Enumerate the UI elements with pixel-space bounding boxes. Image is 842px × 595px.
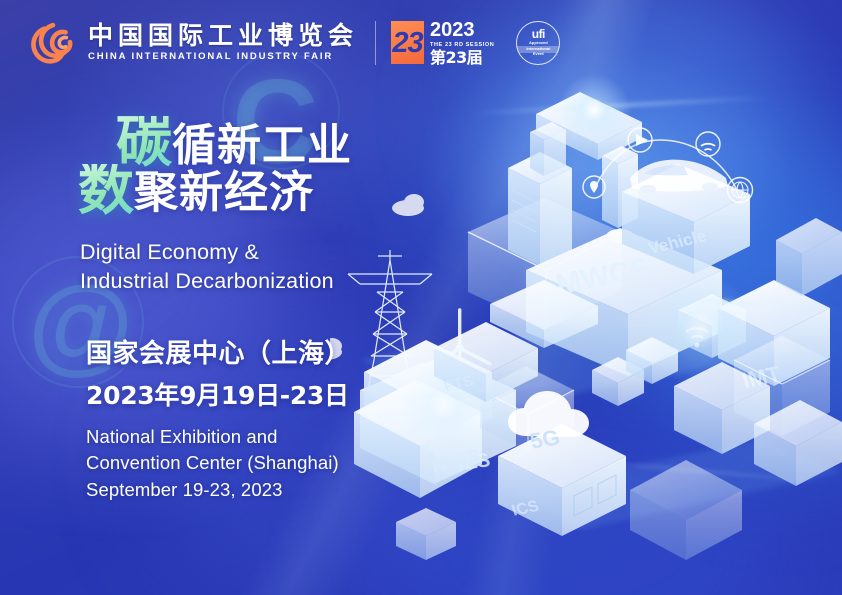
cif-title-en: CHINA INTERNATIONAL INDUSTRY FAIR [88, 51, 358, 62]
isometric-industrial-scene: IES [330, 60, 842, 560]
cloud-icon [392, 194, 424, 216]
car-icon [630, 160, 728, 194]
venue-name-cn: 国家会展中心（上海） [86, 341, 351, 367]
session-number: 23 [392, 29, 422, 58]
location-pin-icon [583, 176, 605, 198]
venue-info-en: National Exhibition and Convention Cente… [86, 424, 339, 503]
headline-accent-char-2: 数 [78, 164, 134, 218]
small-cube [396, 508, 456, 560]
cloud-label-5g: 5G [527, 425, 562, 454]
venue-date-en: September 19-23, 2023 [86, 477, 339, 503]
headline-subtitle: Digital Economy & Industrial Decarboniza… [80, 238, 334, 296]
ufi-band [517, 46, 559, 53]
headline-line-1: 碳 循新工业 [116, 116, 352, 170]
venue-name-en-line-1: National Exhibition and [86, 424, 339, 450]
subtitle-line-2: Industrial Decarbonization [80, 267, 334, 296]
poster-root: C @ [0, 0, 842, 595]
headline-block: 碳 循新工业 数 聚新经济 [78, 116, 352, 218]
session-number-badge: 23 [391, 21, 424, 64]
session-info: 2023 THE 23 RD SESSION 第23届 [430, 20, 494, 66]
subtitle-line-1: Digital Economy & [80, 238, 334, 267]
cif-wordmark: 中国国际工业博览会 CHINA INTERNATIONAL INDUSTRY F… [88, 23, 358, 62]
header-divider [375, 21, 376, 65]
wifi-icon [696, 132, 720, 156]
poster-header: 中国国际工业博览会 CHINA INTERNATIONAL INDUSTRY F… [0, 0, 842, 85]
ufi-sub-line3: Event [533, 52, 544, 57]
ufi-approved-badge: ufi Approved International Event [516, 21, 560, 65]
venue-date-cn: 2023年9月19日-23日 [86, 383, 349, 408]
headline-line-2: 数 聚新经济 [78, 164, 352, 218]
headline-rest-1: 循新工业 [172, 125, 352, 170]
cif-swirl-logo [26, 18, 80, 68]
headline-rest-2: 聚新经济 [134, 172, 314, 217]
session-subtitle-en: THE 23 RD SESSION [430, 42, 494, 48]
block-right-e [776, 218, 842, 296]
ufi-mark: ufi [532, 28, 545, 40]
cif-title-cn: 中国国际工业博览会 [88, 23, 358, 49]
venue-name-en-line-2: Convention Center (Shanghai) [86, 450, 339, 476]
session-year: 2023 [430, 20, 494, 40]
session-subtitle-cn: 第23届 [430, 50, 494, 66]
brand-lockup: 中国国际工业博览会 CHINA INTERNATIONAL INDUSTRY F… [26, 18, 560, 68]
